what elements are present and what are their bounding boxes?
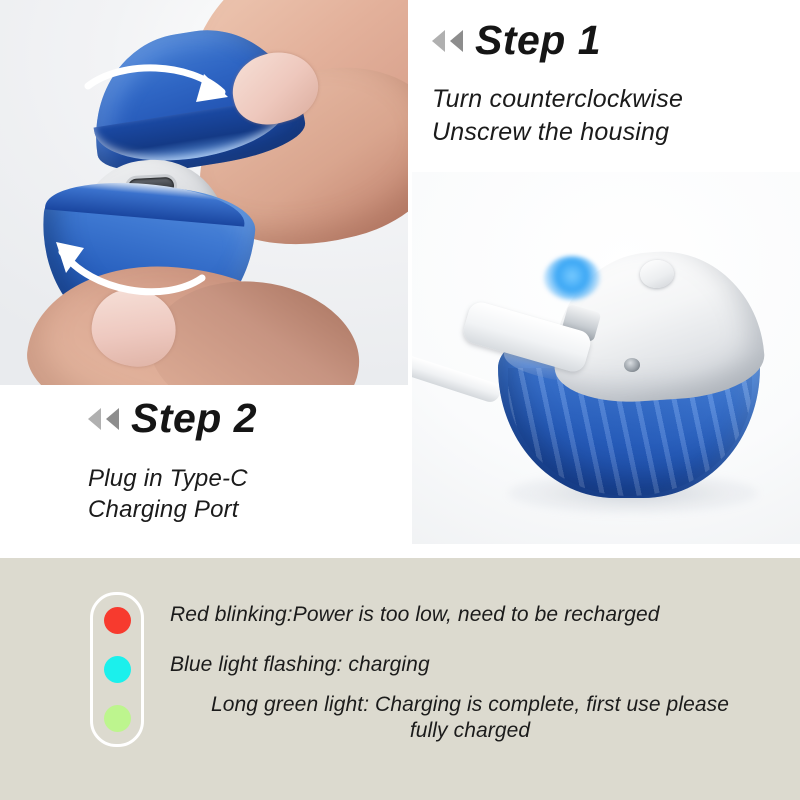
green-led-indicator — [104, 705, 131, 732]
blue-led-glow-icon — [544, 256, 600, 300]
legend-green-text-line2: fully charged — [170, 718, 770, 744]
rotation-arrow-counterclockwise-icon — [40, 218, 210, 298]
step-2-description: Plug in Type-C Charging Port — [88, 463, 408, 525]
double-left-triangle-icon — [432, 30, 445, 52]
step-2-title: Step 2 — [131, 398, 257, 439]
step-1-heading: Step 1 — [432, 20, 792, 61]
hands-unscrewing-ball-photo — [0, 0, 408, 385]
step-2-heading: Step 2 — [88, 398, 408, 439]
dome-screw — [624, 358, 640, 372]
legend-row: Blue light flashing: charging — [170, 640, 770, 690]
red-led-indicator — [104, 607, 131, 634]
step-1-description: Turn counterclockwise Unscrew the housin… — [432, 83, 792, 148]
led-status-legend-panel: Red blinking:Power is too low, need to b… — [0, 558, 800, 800]
step-1-title: Step 1 — [475, 20, 601, 61]
usb-c-charging-photo — [412, 172, 800, 544]
led-indicator-housing-icon — [90, 592, 144, 747]
double-left-triangle-icon-second — [450, 30, 463, 52]
legend-row-list: Red blinking:Power is too low, need to b… — [170, 590, 770, 743]
legend-red-text: Red blinking:Power is too low, need to b… — [170, 602, 660, 628]
infographic-page: Step 1 Turn counterclockwise Unscrew the… — [0, 0, 800, 800]
legend-blue-text: Blue light flashing: charging — [170, 652, 430, 678]
legend-green-text-line1: Long green light: Charging is complete, … — [211, 693, 729, 716]
step-2-text-block: Step 2 Plug in Type-C Charging Port — [88, 398, 408, 525]
blue-led-indicator — [104, 656, 131, 683]
legend-row: Red blinking:Power is too low, need to b… — [170, 590, 770, 640]
legend-content: Red blinking:Power is too low, need to b… — [90, 590, 770, 747]
rotation-arrow-clockwise-icon — [82, 52, 252, 132]
step-1-text-block: Step 1 Turn counterclockwise Unscrew the… — [432, 20, 792, 148]
legend-row: Long green light: Charging is complete, … — [170, 692, 770, 743]
double-left-triangle-icon — [88, 408, 101, 430]
double-left-triangle-icon-second — [106, 408, 119, 430]
